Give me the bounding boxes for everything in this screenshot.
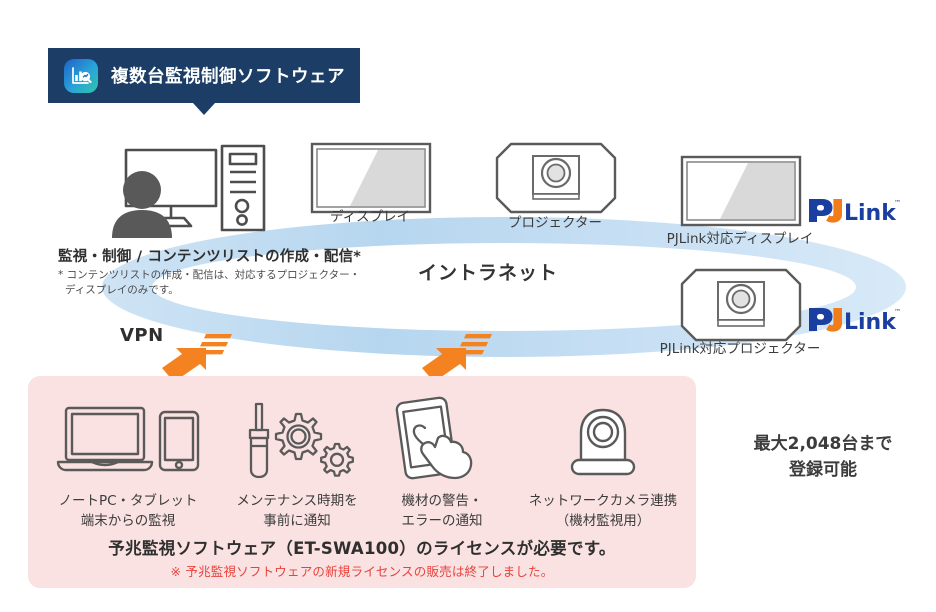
- smartphone-touch-icon: [372, 396, 512, 482]
- capacity-text: 最大2,048台まで 登録可能: [728, 432, 918, 483]
- feature-label-line1: ネットワークカメラ連携: [508, 492, 698, 512]
- feature-label-line2: 端末からの監視: [38, 512, 218, 532]
- capacity-line1: 最大2,048台まで: [728, 432, 918, 458]
- license-requirement-text: 予兆監視ソフトウェア（ET-SWA100）のライセンスが必要です。: [36, 535, 688, 559]
- pjlink-logo-icon: Link ™: [806, 196, 902, 226]
- svg-text:™: ™: [894, 308, 901, 316]
- footnote-line-2: ディスプレイのみです。: [58, 283, 438, 298]
- footnote-line-1: * コンテンツリストの作成・配信は、対応するプロジェクター・: [58, 269, 360, 281]
- feature-label: ノートPC・タブレット 端末からの監視: [38, 492, 218, 531]
- monitor-control-footnote: * コンテンツリストの作成・配信は、対応するプロジェクター・ ディスプレイのみで…: [58, 268, 438, 298]
- operator-desktop-pc-icon: [104, 138, 284, 248]
- pjlink-logo-icon: Link ™: [806, 305, 902, 335]
- feature-label-line1: ノートPC・タブレット: [38, 492, 218, 512]
- pjlink-projector-label: PJLink対応プロジェクター: [615, 340, 865, 358]
- feature-label-line2: （機材監視用）: [508, 512, 698, 532]
- pjlink-display-icon: [680, 155, 802, 227]
- pjlink-display-label: PJLink対応ディスプレイ: [620, 230, 860, 248]
- vpn-label: VPN: [120, 325, 164, 346]
- feature-label-line1: 機材の警告・: [372, 492, 512, 512]
- feature-label: メンテナンス時期を 事前に通知: [222, 492, 372, 531]
- feature-label-line1: メンテナンス時期を: [222, 492, 372, 512]
- feature-label: ネットワークカメラ連携 （機材監視用）: [508, 492, 698, 531]
- svg-text:Link: Link: [844, 310, 897, 335]
- feature-laptop-tablet: ノートPC・タブレット 端末からの監視: [38, 396, 218, 531]
- feature-label-line2: 事前に通知: [222, 512, 372, 532]
- feature-network-camera: ネットワークカメラ連携 （機材監視用）: [508, 396, 698, 531]
- feature-label-line2: エラーの通知: [372, 512, 512, 532]
- feature-label: 機材の警告・ エラーの通知: [372, 492, 512, 531]
- projector-icon: [495, 142, 617, 214]
- dome-camera-icon: [508, 396, 698, 482]
- header-banner: 複数台監視制御ソフトウェア: [48, 48, 360, 103]
- laptop-tablet-icon: [38, 396, 218, 482]
- header-title: 複数台監視制御ソフトウェア: [111, 63, 345, 88]
- svg-text:Link: Link: [844, 201, 897, 226]
- network-arrow-icon: [420, 330, 504, 382]
- feature-maintenance: メンテナンス時期を 事前に通知: [222, 396, 372, 531]
- display-label: ディスプレイ: [290, 208, 450, 226]
- monitor-control-caption: 監視・制御 / コンテンツリストの作成・配信*: [58, 245, 458, 266]
- display-icon: [310, 142, 432, 214]
- feature-alert-notification: 機材の警告・ エラーの通知: [372, 396, 512, 531]
- svg-text:™: ™: [894, 199, 901, 207]
- chart-search-icon: [64, 59, 98, 93]
- capacity-line2: 登録可能: [728, 458, 918, 484]
- screwdriver-gears-icon: [222, 396, 372, 482]
- banner-pointer: [193, 103, 215, 115]
- diagram-canvas: イントラネット 複数台監視制御ソフトウェア: [0, 0, 936, 612]
- license-discontinued-note: ※ 予兆監視ソフトウェアの新規ライセンスの販売は終了しました。: [36, 561, 688, 580]
- pjlink-projector-icon: [680, 268, 802, 342]
- vpn-arrow-icon: [160, 330, 244, 382]
- projector-label: プロジェクター: [480, 214, 630, 232]
